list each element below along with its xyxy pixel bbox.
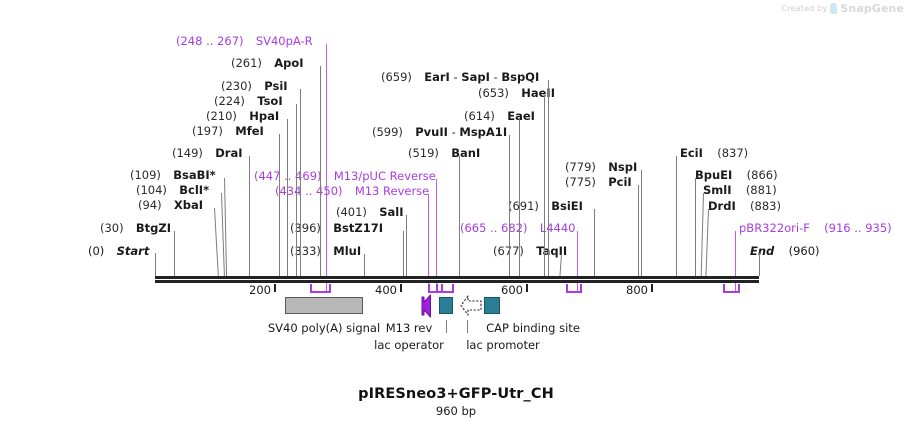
snapgene-logo-icon bbox=[830, 3, 837, 14]
enzyme-label-mfei[interactable]: (197) MfeI bbox=[192, 125, 264, 137]
enzyme-label-psii[interactable]: (230) PsiI bbox=[221, 80, 288, 92]
feature-sv40-polya-signal[interactable] bbox=[285, 297, 363, 314]
enzyme-position: (197) bbox=[192, 124, 223, 138]
leader-line-bani bbox=[459, 156, 460, 276]
enzyme-label-bsabi[interactable]: (109) BsaBI* bbox=[130, 169, 216, 181]
feature-lac-promoter-arrow-icon[interactable] bbox=[459, 295, 483, 317]
enzyme-name: PciI bbox=[608, 175, 631, 189]
enzyme-label-smli[interactable]: SmlI (881) bbox=[703, 184, 777, 196]
enzyme-name: MfeI bbox=[235, 124, 264, 138]
enzyme-name: TaqII bbox=[536, 244, 567, 258]
ruler-label-400: 400 bbox=[375, 283, 400, 297]
primer-name: SV40pA-R bbox=[256, 34, 313, 48]
feature-m13-rev-arrow-icon[interactable] bbox=[421, 294, 436, 318]
leader-line-bsiei bbox=[594, 209, 595, 276]
leader-line-btgzi bbox=[174, 231, 175, 276]
enzyme-position: (659) bbox=[381, 70, 412, 84]
feature-connector-lac-operator bbox=[446, 320, 447, 333]
enzyme-name: EaeI bbox=[507, 109, 535, 123]
enzyme-name: TsoI bbox=[257, 94, 282, 108]
leader-line-tsoi bbox=[296, 104, 297, 276]
end-name: End bbox=[750, 244, 774, 258]
plasmid-size-label: 960 bp bbox=[0, 404, 912, 418]
enzyme-position: (881) bbox=[746, 183, 777, 197]
primer-bracket-l4440[interactable] bbox=[566, 284, 582, 293]
leader-line-m13-puc-reverse bbox=[436, 179, 437, 291]
label-start[interactable]: (0) Start bbox=[88, 245, 149, 257]
enzyme-label-bcli[interactable]: (104) BclI* bbox=[136, 184, 209, 196]
primer-range: (434 .. 450) bbox=[275, 184, 343, 198]
enzyme-label-tsoi[interactable]: (224) TsoI bbox=[214, 95, 283, 107]
enzyme-label-bstz17i[interactable]: (396) BstZ17I bbox=[290, 222, 383, 234]
enzyme-name-alt2: BspQI bbox=[501, 70, 539, 84]
enzyme-name: MluI bbox=[333, 244, 361, 258]
leader-line-psii bbox=[300, 89, 301, 276]
enzyme-name: BpuEI bbox=[695, 168, 732, 182]
primer-range: (916 .. 935) bbox=[824, 221, 892, 235]
enzyme-label-btgzi[interactable]: (30) BtgZI bbox=[100, 222, 171, 234]
primer-bracket-pbr322ori-f[interactable] bbox=[723, 284, 740, 293]
leader-line-drai bbox=[249, 156, 250, 276]
leader-line-nspi bbox=[641, 170, 642, 276]
ruler-label-800: 800 bbox=[626, 283, 651, 297]
enzyme-label-sali[interactable]: (401) SalI bbox=[336, 206, 404, 218]
enzyme-label-hpai[interactable]: (210) HpaI bbox=[206, 110, 279, 122]
enzyme-label-pvuii-mspa1i[interactable]: (599) PvuII - MspA1I bbox=[372, 126, 507, 138]
enzyme-label-eaei[interactable]: (614) EaeI bbox=[464, 110, 535, 122]
enzyme-position: (866) bbox=[747, 168, 778, 182]
enzyme-name: EciI bbox=[680, 146, 703, 160]
leader-line-eaei bbox=[519, 119, 520, 276]
label-end[interactable]: End (960) bbox=[750, 245, 820, 257]
enzyme-name: BsaBI bbox=[173, 168, 209, 182]
plasmid-backbone-inner-line bbox=[155, 279, 759, 280]
leader-line-ecii bbox=[676, 156, 677, 276]
enzyme-name: DraI bbox=[215, 146, 242, 160]
enzyme-label-pcii[interactable]: (775) PciI bbox=[565, 176, 632, 188]
leader-line-eari bbox=[548, 80, 549, 276]
enzyme-star: * bbox=[203, 183, 209, 197]
snapgene-watermark: Created by SnapGene bbox=[781, 2, 904, 15]
enzyme-position: (149) bbox=[172, 146, 203, 160]
leader-line-pvuii bbox=[509, 135, 510, 276]
primer-name: L4440 bbox=[540, 221, 576, 235]
start-name: Start bbox=[117, 244, 150, 258]
enzyme-name: HaeII bbox=[521, 86, 555, 100]
leader-line-haeii bbox=[544, 96, 545, 276]
enzyme-separator: - bbox=[453, 70, 457, 84]
enzyme-name: BtgZI bbox=[136, 221, 171, 235]
enzyme-name: ApoI bbox=[274, 56, 303, 70]
watermark-brand: SnapGene bbox=[840, 2, 904, 15]
enzyme-label-bpuei[interactable]: BpuEI (866) bbox=[695, 169, 778, 181]
enzyme-label-apoi[interactable]: (261) ApoI bbox=[231, 57, 304, 69]
enzyme-position: (599) bbox=[372, 125, 403, 139]
leader-line-xbai bbox=[214, 208, 219, 276]
enzyme-label-eari-sapi-bspqi[interactable]: (659) EarI - SapI - BspQI bbox=[381, 71, 539, 83]
leader-line-mfei bbox=[279, 134, 280, 276]
enzyme-name: XbaI bbox=[174, 198, 203, 212]
enzyme-position: (519) bbox=[408, 146, 439, 160]
enzyme-star: * bbox=[210, 168, 216, 182]
primer-name: M13/pUC Reverse bbox=[334, 169, 436, 183]
enzyme-label-drdi[interactable]: DrdI (883) bbox=[708, 200, 781, 212]
enzyme-position: (614) bbox=[464, 109, 495, 123]
enzyme-position: (30) bbox=[100, 221, 124, 235]
enzyme-label-xbai[interactable]: (94) XbaI bbox=[138, 199, 203, 211]
feature-label-lac-promoter[interactable]: lac promoter bbox=[466, 338, 540, 352]
enzyme-name: PsiI bbox=[264, 79, 287, 93]
primer-label-m13-reverse[interactable]: (434 .. 450) M13 Reverse bbox=[275, 185, 429, 197]
enzyme-name: HpaI bbox=[249, 109, 279, 123]
leader-line-start bbox=[155, 253, 156, 276]
enzyme-separator: - bbox=[452, 125, 456, 139]
enzyme-separator: - bbox=[494, 70, 498, 84]
start-position: (0) bbox=[88, 244, 104, 258]
primer-name: M13 Reverse bbox=[355, 184, 429, 198]
leader-line-bstz17i bbox=[403, 231, 404, 276]
enzyme-label-nspi[interactable]: (779) NspI bbox=[565, 161, 637, 173]
enzyme-name-alt1: MspA1I bbox=[459, 125, 507, 139]
enzyme-name: DrdI bbox=[708, 199, 736, 213]
enzyme-position: (104) bbox=[136, 183, 167, 197]
enzyme-label-bani[interactable]: (519) BanI bbox=[408, 147, 480, 159]
enzyme-name: PvuII bbox=[415, 125, 448, 139]
enzyme-position: (779) bbox=[565, 160, 596, 174]
enzyme-position: (210) bbox=[206, 109, 237, 123]
ruler-tick-600 bbox=[526, 284, 528, 292]
leader-line-sali bbox=[406, 215, 407, 276]
enzyme-position: (837) bbox=[717, 146, 748, 160]
enzyme-label-taqii[interactable]: (677) TaqII bbox=[493, 245, 567, 257]
primer-label-sv40pa-r[interactable]: (248 .. 267) SV40pA-R bbox=[176, 35, 313, 47]
enzyme-position: (691) bbox=[508, 199, 539, 213]
enzyme-position: (94) bbox=[138, 198, 162, 212]
enzyme-name: NspI bbox=[608, 160, 637, 174]
enzyme-position: (109) bbox=[130, 168, 161, 182]
enzyme-name: SmlI bbox=[703, 183, 732, 197]
feature-connector-lac-promoter bbox=[467, 320, 468, 333]
leader-line-taqii bbox=[559, 254, 562, 276]
leader-line-mlui bbox=[364, 254, 365, 276]
primer-bracket-sv40pa-r[interactable] bbox=[310, 284, 331, 293]
enzyme-name: BstZ17I bbox=[333, 221, 383, 235]
leader-line-smli bbox=[701, 193, 704, 276]
page-title: pIRESneo3+GFP-Utr_CH bbox=[0, 386, 912, 402]
enzyme-name: BclI bbox=[179, 183, 203, 197]
ruler-tick-800 bbox=[651, 284, 653, 292]
ruler-label-200: 200 bbox=[249, 283, 274, 297]
primer-range: (665 .. 682) bbox=[460, 221, 528, 235]
feature-cap-binding-site[interactable] bbox=[484, 297, 500, 314]
enzyme-position: (653) bbox=[478, 86, 509, 100]
leader-line-bpuei bbox=[695, 178, 696, 276]
enzyme-position: (883) bbox=[750, 199, 781, 213]
ruler-label-600: 600 bbox=[501, 283, 526, 297]
leader-line-end bbox=[759, 253, 760, 276]
primer-name: pBR322ori-F bbox=[739, 221, 810, 235]
enzyme-position: (230) bbox=[221, 79, 252, 93]
leader-line-bsabi bbox=[224, 178, 227, 276]
leader-line-hpai bbox=[287, 119, 288, 276]
ruler-tick-400 bbox=[400, 284, 402, 292]
enzyme-position: (224) bbox=[214, 94, 245, 108]
primer-range: (248 .. 267) bbox=[176, 34, 244, 48]
primer-label-l4440[interactable]: (665 .. 682) L4440 bbox=[460, 222, 576, 234]
enzyme-name: SalI bbox=[379, 205, 403, 219]
enzyme-position: (401) bbox=[336, 205, 367, 219]
watermark-created-by: Created by bbox=[781, 4, 827, 13]
enzyme-position: (261) bbox=[231, 56, 262, 70]
enzyme-name: BsiEI bbox=[551, 199, 583, 213]
primer-bracket-m13-puc-reverse[interactable] bbox=[436, 284, 454, 293]
feature-label-sv40-polya-signal[interactable]: SV40 poly(A) signal bbox=[268, 321, 380, 335]
enzyme-name: BanI bbox=[451, 146, 480, 160]
feature-label-m13-rev[interactable]: M13 rev bbox=[386, 321, 433, 335]
leader-line-pcii bbox=[638, 185, 639, 276]
leader-line-apoi bbox=[320, 66, 321, 276]
enzyme-label-drai[interactable]: (149) DraI bbox=[172, 147, 243, 159]
enzyme-name: EarI bbox=[424, 70, 450, 84]
feature-lac-operator[interactable] bbox=[439, 297, 453, 314]
primer-label-pbr322ori-f[interactable]: pBR322ori-F (916 .. 935) bbox=[739, 222, 892, 234]
enzyme-name-alt1: SapI bbox=[461, 70, 490, 84]
enzyme-position: (333) bbox=[290, 244, 321, 258]
leader-line-sv40pa-r bbox=[326, 44, 327, 291]
enzyme-position: (775) bbox=[565, 175, 596, 189]
leader-line-drdi bbox=[705, 209, 709, 276]
feature-label-cap-binding-site[interactable]: CAP binding site bbox=[486, 321, 580, 335]
feature-label-lac-operator[interactable]: lac operator bbox=[374, 338, 444, 352]
enzyme-position: (396) bbox=[290, 221, 321, 235]
end-position: (960) bbox=[789, 244, 820, 258]
enzyme-label-ecii[interactable]: EciI (837) bbox=[680, 147, 748, 159]
primer-label-m13-puc-reverse[interactable]: (447 .. 469) M13/pUC Reverse bbox=[254, 170, 436, 182]
ruler-tick-200 bbox=[274, 284, 276, 292]
